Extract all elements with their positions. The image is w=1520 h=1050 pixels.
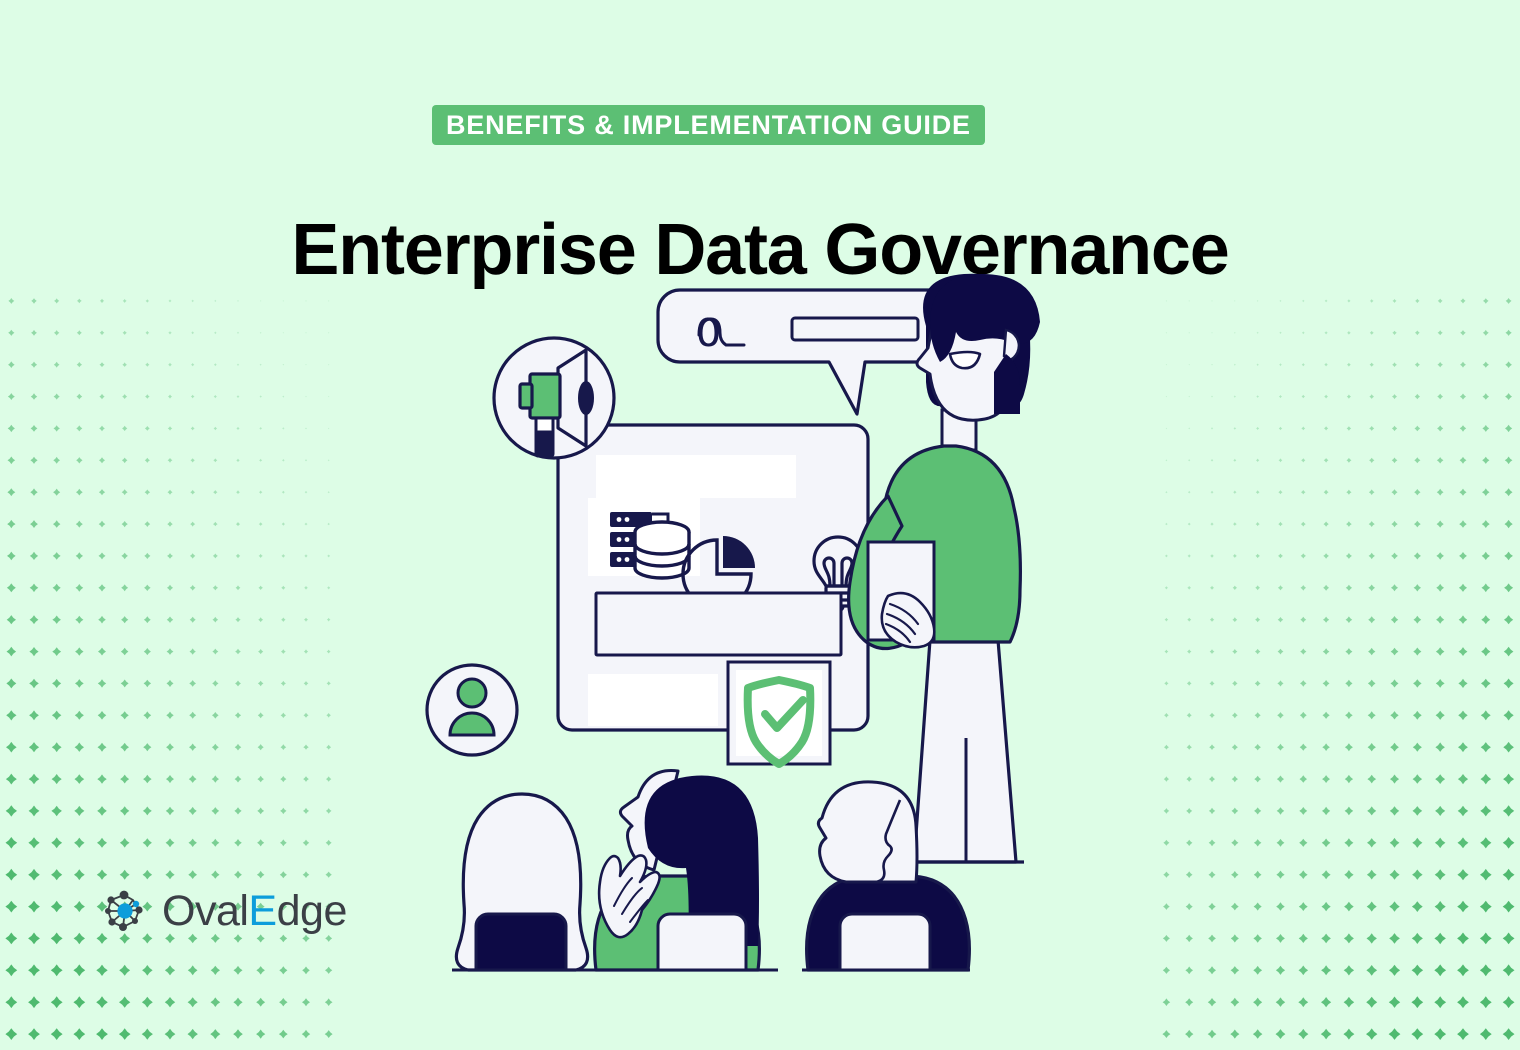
audience-right-hair: [818, 782, 917, 882]
logo-center-node: [117, 903, 132, 918]
top-white-block: [596, 455, 796, 498]
logo-word-highlight: E: [248, 887, 276, 935]
logo-word-part-2: dge: [277, 887, 347, 935]
audience-member-left: [452, 794, 590, 970]
eyebrow-label: BENEFITS & IMPLEMENTATION GUIDE: [446, 112, 971, 139]
speech-bubble: [658, 290, 957, 414]
outlined-empty-field: [596, 593, 841, 655]
data-governance-meeting-illustration: [410, 270, 1110, 1000]
audience-center-chair: [658, 914, 746, 970]
logo-word-part-1: Oval: [162, 887, 248, 935]
logo-accent-node: [133, 901, 139, 907]
dot-grid-right: [1155, 285, 1520, 1050]
megaphone-icon-badge: [494, 338, 614, 458]
audience-left-chair: [476, 914, 566, 970]
audience-member-center: [590, 771, 778, 970]
poster-canvas: BENEFITS & IMPLEMENTATION GUIDE Enterpri…: [0, 0, 1520, 1050]
empty-text-bar: [792, 318, 918, 340]
audience-right-chair: [840, 914, 930, 970]
logo-wordmark: OvalEdge: [162, 890, 347, 933]
network-nodes-icon: [100, 886, 150, 936]
security-shield-card: [728, 662, 830, 764]
lower-white-block: [588, 674, 718, 726]
user-avatar-icon-badge[interactable]: [427, 665, 517, 755]
eyebrow-badge: BENEFITS & IMPLEMENTATION GUIDE: [432, 105, 985, 145]
brand-logo[interactable]: OvalEdge: [100, 886, 347, 936]
